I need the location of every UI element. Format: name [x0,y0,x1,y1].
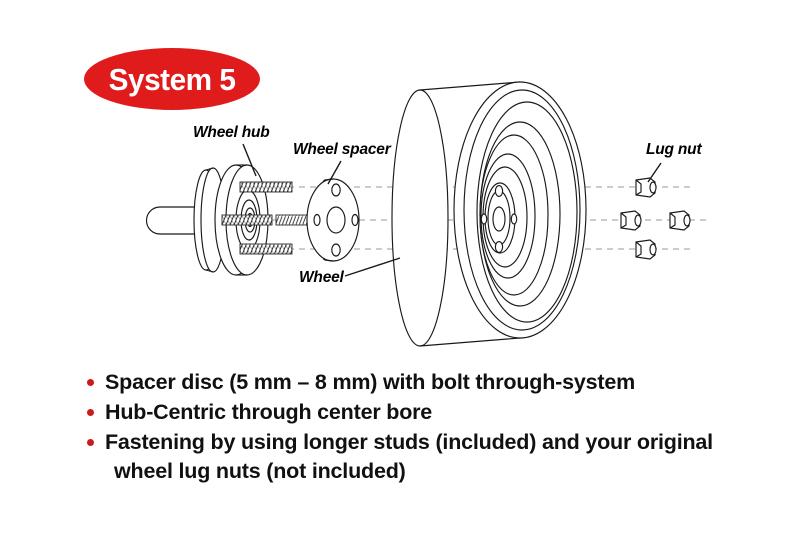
lug-nut-1 [636,178,656,197]
wheel-assembly-diagram: Wheel hub Wheel spacer Lug nut Wheel [0,0,800,360]
wheel-graphic [392,82,586,346]
feature-text: Fastening by using longer studs (include… [105,430,713,454]
leader-lines [243,144,661,276]
lug-nut-4 [636,240,656,259]
feature-text: Hub-Centric through center bore [105,400,432,424]
list-item: Fastening by using longer studs (include… [86,428,766,486]
feature-text-continuation: wheel lug nuts (not included) [105,457,766,486]
list-item: Hub-Centric through center bore [86,398,766,427]
label-wheel-spacer: Wheel spacer [293,141,391,159]
list-item: Spacer disc (5 mm – 8 mm) with bolt thro… [86,368,766,397]
label-wheel-hub: Wheel hub [193,124,270,142]
wheel-spacer-graphic [307,179,359,261]
feature-text: Spacer disc (5 mm – 8 mm) with bolt thro… [105,370,635,394]
diagram-svg [0,0,800,360]
lug-nuts [621,178,690,259]
lug-nut-2 [621,211,641,230]
feature-list: Spacer disc (5 mm – 8 mm) with bolt thro… [86,368,766,487]
lug-nut-3 [670,211,690,230]
label-lug-nut: Lug nut [646,141,701,159]
label-wheel: Wheel [299,269,344,287]
